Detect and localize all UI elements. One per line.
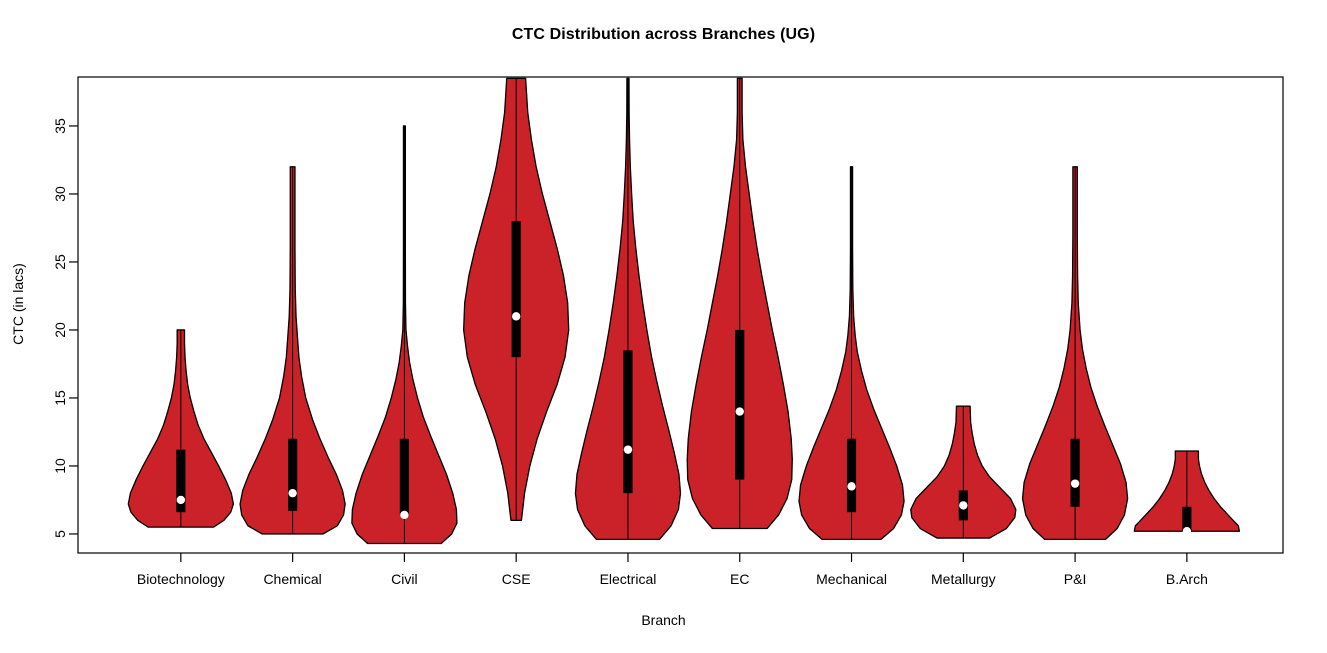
violin-civil[interactable] bbox=[352, 126, 457, 544]
violin-median-dot bbox=[177, 496, 185, 504]
violin-p-i[interactable] bbox=[1023, 167, 1128, 540]
violin-median-dot bbox=[847, 482, 855, 490]
x-axis-tick-label: B.Arch bbox=[1166, 571, 1208, 587]
y-axis-tick-label: 10 bbox=[52, 458, 68, 474]
x-axis-tick-label: CSE bbox=[502, 571, 531, 587]
violin-iqr-box bbox=[623, 350, 632, 493]
violin-plot-figure: CTC Distribution across Branches (UG) CT… bbox=[0, 0, 1327, 653]
violin-cse[interactable] bbox=[464, 78, 569, 520]
violin-median-dot bbox=[959, 501, 967, 509]
violin-median-dot bbox=[400, 511, 408, 519]
y-axis-tick-label: 25 bbox=[52, 254, 68, 270]
x-axis-tick-label: Electrical bbox=[600, 571, 657, 587]
x-axis: BiotechnologyChemicalCivilCSEElectricalE… bbox=[137, 553, 1208, 587]
violin-electrical[interactable] bbox=[575, 78, 680, 539]
x-axis-tick-label: Metallurgy bbox=[931, 571, 996, 587]
violin-iqr-box bbox=[400, 439, 409, 515]
x-axis-tick-label: Mechanical bbox=[816, 571, 887, 587]
violin-b-arch[interactable] bbox=[1134, 451, 1239, 535]
x-axis-tick-label: P&I bbox=[1064, 571, 1087, 587]
violin-iqr-box bbox=[512, 221, 521, 357]
violin-metallurgy[interactable] bbox=[911, 406, 1016, 538]
violin-iqr-box bbox=[847, 439, 856, 512]
y-axis: 5101520253035 bbox=[52, 118, 78, 538]
violin-iqr-box bbox=[288, 439, 297, 511]
violin-median-dot bbox=[512, 312, 520, 320]
x-axis-tick-label: Civil bbox=[391, 571, 417, 587]
y-axis-tick-label: 15 bbox=[52, 390, 68, 406]
violin-iqr-box bbox=[1071, 439, 1080, 507]
y-axis-tick-label: 30 bbox=[52, 186, 68, 202]
violin-median-dot bbox=[288, 489, 296, 497]
y-axis-tick-label: 35 bbox=[52, 118, 68, 134]
violin-plot-canvas: 5101520253035BiotechnologyChemicalCivilC… bbox=[0, 0, 1327, 653]
violin-median-dot bbox=[736, 407, 744, 415]
violin-biotechnology[interactable] bbox=[128, 330, 233, 527]
violin-median-dot bbox=[624, 445, 632, 453]
y-axis-tick-label: 20 bbox=[52, 322, 68, 338]
x-axis-tick-label: Chemical bbox=[263, 571, 321, 587]
y-axis-tick-label: 5 bbox=[52, 530, 68, 538]
violin-chemical[interactable] bbox=[240, 167, 345, 534]
violin-iqr-box bbox=[735, 330, 744, 480]
violin-median-dot bbox=[1071, 479, 1079, 487]
x-axis-tick-label: Biotechnology bbox=[137, 571, 225, 587]
violin-mechanical[interactable] bbox=[799, 167, 904, 540]
x-axis-tick-label: EC bbox=[730, 571, 749, 587]
violin-median-dot bbox=[1183, 527, 1191, 535]
violin-ec[interactable] bbox=[687, 78, 792, 528]
